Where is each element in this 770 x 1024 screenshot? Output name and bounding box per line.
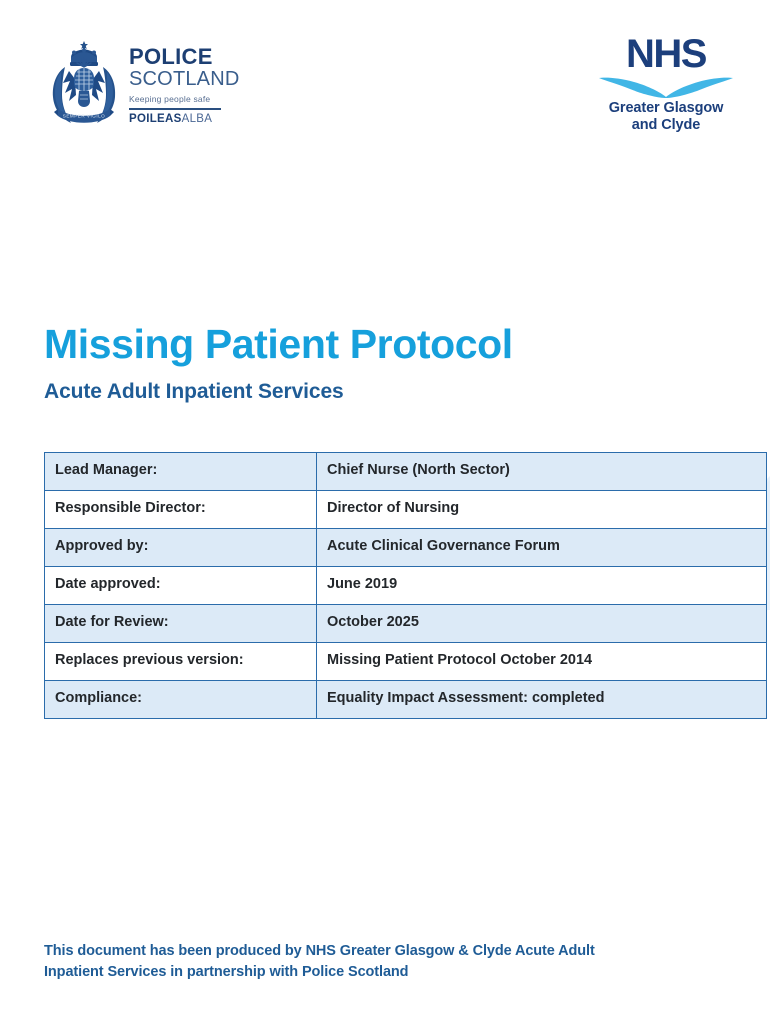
document-footer: This document has been produced by NHS G…: [44, 941, 684, 983]
table-row: Responsible Director: Director of Nursin…: [45, 491, 767, 529]
title-block: Missing Patient Protocol Acute Adult Inp…: [44, 322, 734, 404]
row-value: Acute Clinical Governance Forum: [317, 529, 767, 567]
police-scotland-divider: [129, 108, 221, 110]
footer-line1: This document has been produced by NHS G…: [44, 941, 684, 962]
police-scotland-gaelic: POILEASALBA: [129, 113, 240, 126]
police-scotland-wordmark: POLICE SCOTLAND Keeping people safe POIL…: [129, 44, 240, 125]
police-scotland-crest-icon: SEMPER VIGILO: [48, 39, 120, 131]
row-label: Date for Review:: [45, 605, 317, 643]
row-label: Approved by:: [45, 529, 317, 567]
table-row: Date approved: June 2019: [45, 567, 767, 605]
table-row: Approved by: Acute Clinical Governance F…: [45, 529, 767, 567]
row-label: Lead Manager:: [45, 453, 317, 491]
row-label: Replaces previous version:: [45, 643, 317, 681]
footer-line2: Inpatient Services in partnership with P…: [44, 962, 684, 983]
nhs-board-name: Greater Glasgow and Clyde: [596, 100, 736, 133]
table-row: Lead Manager: Chief Nurse (North Sector): [45, 453, 767, 491]
table-row: Replaces previous version: Missing Patie…: [45, 643, 767, 681]
row-value: Equality Impact Assessment: completed: [317, 681, 767, 719]
row-value: June 2019: [317, 567, 767, 605]
document-control-table-body: Lead Manager: Chief Nurse (North Sector)…: [45, 453, 767, 719]
police-scotland-tagline: Keeping people safe: [129, 94, 240, 104]
row-value: October 2025: [317, 605, 767, 643]
police-scotland-line1: POLICE: [129, 46, 240, 68]
police-scotland-logo: SEMPER VIGILO POLICE SCOTLAND Keeping pe…: [48, 36, 248, 134]
table-row: Date for Review: October 2025: [45, 605, 767, 643]
row-label: Responsible Director:: [45, 491, 317, 529]
police-scotland-gaelic-bold: POILEAS: [129, 113, 182, 125]
table-row: Compliance: Equality Impact Assessment: …: [45, 681, 767, 719]
svg-text:SEMPER VIGILO: SEMPER VIGILO: [63, 113, 106, 118]
row-value: Missing Patient Protocol October 2014: [317, 643, 767, 681]
document-header: SEMPER VIGILO POLICE SCOTLAND Keeping pe…: [0, 0, 770, 150]
nhs-board-line2: and Clyde: [596, 117, 736, 134]
row-label: Compliance:: [45, 681, 317, 719]
police-scotland-gaelic-light: ALBA: [182, 113, 213, 125]
document-control-table: Lead Manager: Chief Nurse (North Sector)…: [44, 452, 767, 719]
nhs-board-line1: Greater Glasgow: [596, 100, 736, 117]
document-page: SEMPER VIGILO POLICE SCOTLAND Keeping pe…: [0, 0, 770, 1024]
nhs-wordmark: NHS: [596, 34, 736, 74]
row-label: Date approved:: [45, 567, 317, 605]
nhs-swoosh-icon: [598, 76, 734, 98]
nhs-logo: NHS Greater Glasgow and Clyde: [596, 34, 736, 133]
police-scotland-line2: SCOTLAND: [129, 69, 240, 91]
page-subtitle: Acute Adult Inpatient Services: [44, 379, 734, 404]
row-value: Director of Nursing: [317, 491, 767, 529]
row-value: Chief Nurse (North Sector): [317, 453, 767, 491]
nhs-mark: NHS: [596, 34, 736, 94]
page-title: Missing Patient Protocol: [44, 322, 734, 366]
